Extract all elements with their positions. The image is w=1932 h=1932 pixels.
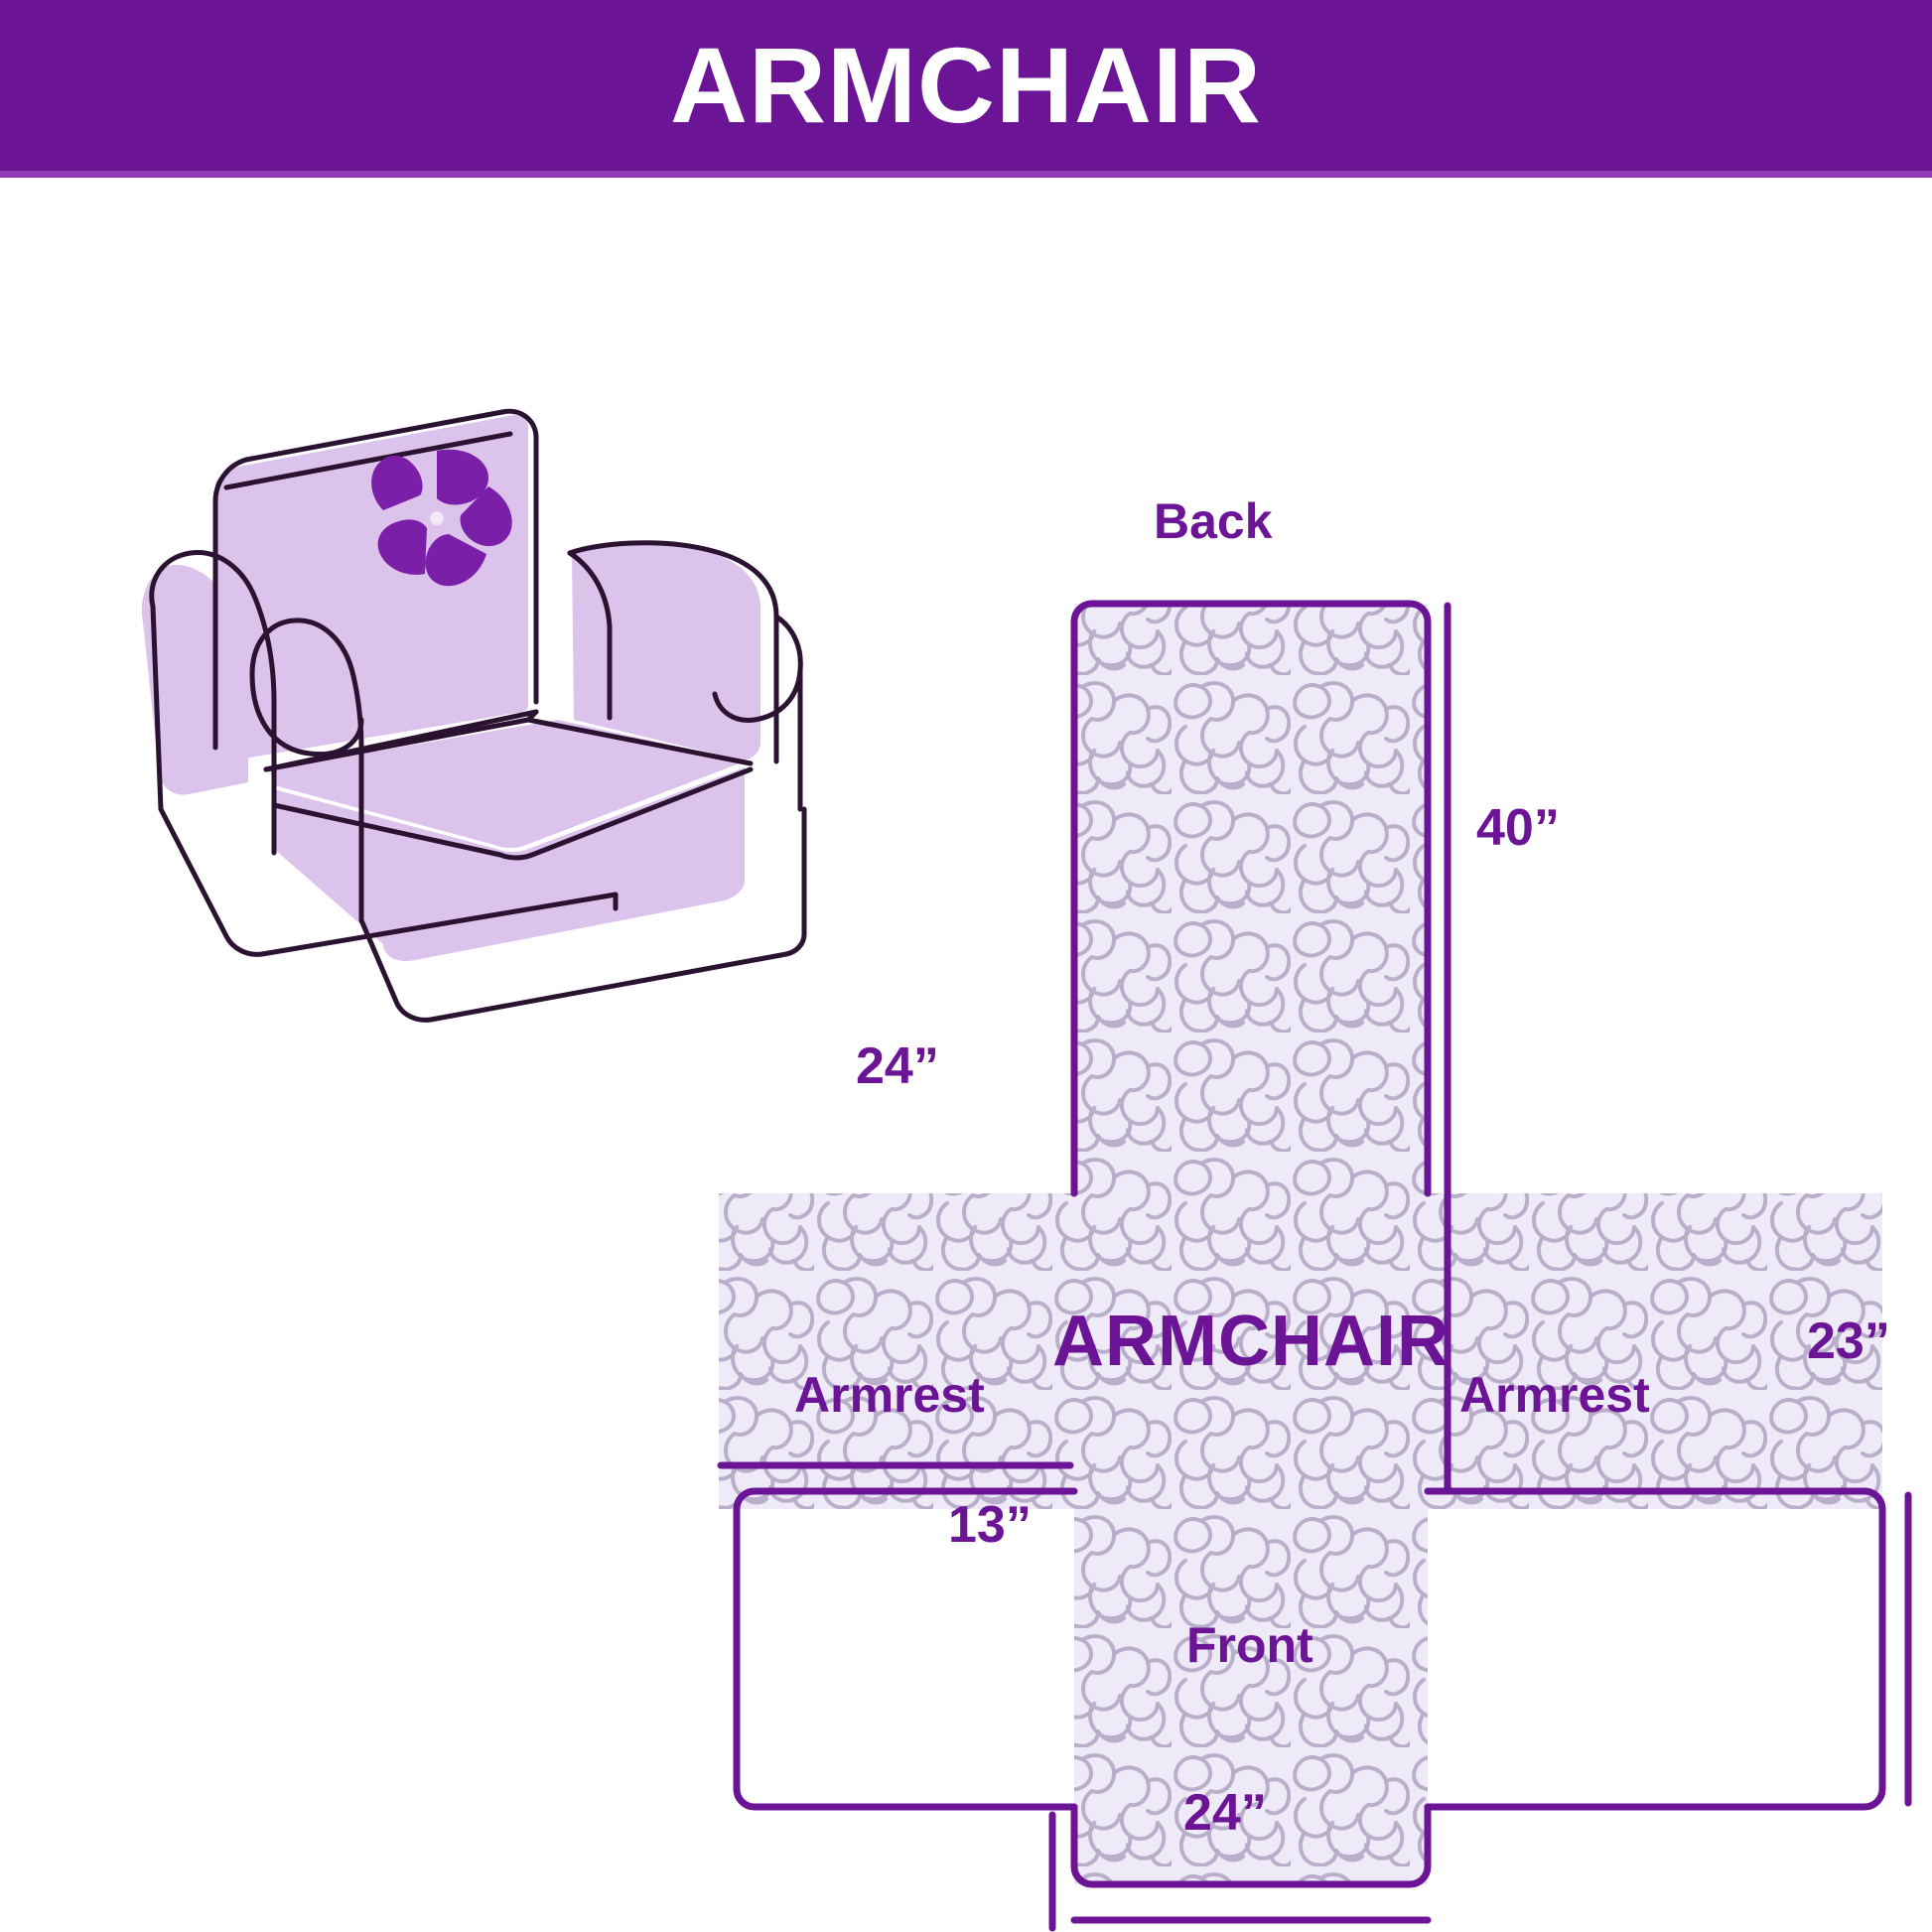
header-underline-divider — [0, 171, 1932, 178]
dimension-label-back-height: 40” — [1476, 802, 1560, 854]
panel-label-armrest-left: Armrest — [794, 1370, 985, 1420]
dimension-label-front-height: 13” — [948, 1499, 1032, 1551]
page-title: ARMCHAIR — [0, 0, 1932, 171]
panel-label-back: Back — [1154, 496, 1273, 546]
panel-label-center: ARMCHAIR — [1052, 1306, 1449, 1377]
dimension-label-front-width: 24” — [1183, 1787, 1267, 1839]
dimension-label-back-width: 24” — [856, 1040, 939, 1092]
panel-label-front: Front — [1186, 1620, 1313, 1670]
panel-label-armrest-right: Armrest — [1459, 1370, 1650, 1420]
quilt-texture — [695, 556, 1932, 1932]
slipcover-cross-diagram — [695, 556, 1932, 1932]
slipcover-cross-shape — [695, 556, 1932, 1932]
dimension-label-armrest-depth: 23” — [1807, 1315, 1890, 1367]
